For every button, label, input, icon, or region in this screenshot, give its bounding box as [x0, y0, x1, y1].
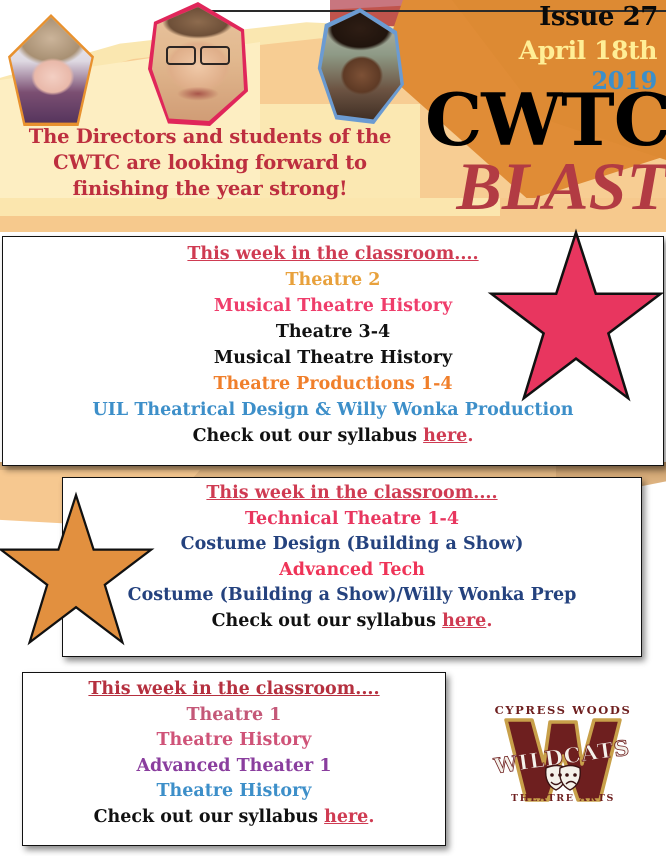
issue-number: Issue 27 — [539, 2, 658, 32]
classroom-box-theatre-1: This week in the classroom.... Theatre 1… — [22, 672, 446, 846]
box3-heading: This week in the classroom.... — [23, 681, 445, 699]
box3-footer-suffix: . — [368, 807, 374, 827]
newsletter-page: The Directors and students of the CWTC a… — [0, 0, 666, 856]
box3-footer-prefix: Check out our syllabus — [94, 807, 325, 827]
box1-syllabus-link[interactable]: here — [423, 426, 467, 446]
newsletter-header: The Directors and students of the CWTC a… — [0, 0, 666, 232]
box3-syllabus-link[interactable]: here — [324, 807, 368, 827]
page-title: CWTC — [425, 88, 666, 153]
box2-syllabus-link[interactable]: here — [442, 611, 486, 631]
box3-line-1: Theatre 1 — [23, 707, 445, 725]
box1-footer-prefix: Check out our syllabus — [193, 426, 424, 446]
page-subtitle: BLAST — [456, 156, 666, 217]
box3-line-3: Advanced Theater 1 — [23, 758, 445, 776]
pink-star-icon — [486, 228, 666, 410]
glasses-icon — [166, 46, 230, 62]
issue-date: April 18th — [519, 36, 657, 65]
director-photo-1-image — [8, 14, 94, 126]
box1-footer: Check out our syllabus here. — [3, 428, 663, 446]
cwtc-wildcats-logo: CYPRESS WOODS WILDCATS THEATRE ARTS — [488, 700, 638, 812]
box1-footer-suffix: . — [467, 426, 473, 446]
header-message: The Directors and students of the CWTC a… — [16, 124, 404, 202]
director-photo-1 — [8, 14, 94, 126]
box3-line-2: Theatre History — [23, 732, 445, 750]
box3-line-4: Theatre History — [23, 783, 445, 801]
logo-top-text: CYPRESS WOODS — [495, 703, 632, 717]
box2-footer-suffix: . — [486, 611, 492, 631]
classroom-box-theatre-1-lines: This week in the classroom.... Theatre 1… — [23, 673, 445, 826]
logo-bottom-text: THEATRE ARTS — [511, 793, 615, 804]
box2-footer-prefix: Check out our syllabus — [212, 611, 443, 631]
box3-footer: Check out our syllabus here. — [23, 809, 445, 827]
orange-star-icon — [0, 492, 156, 652]
theatre-masks-icon — [546, 766, 581, 791]
